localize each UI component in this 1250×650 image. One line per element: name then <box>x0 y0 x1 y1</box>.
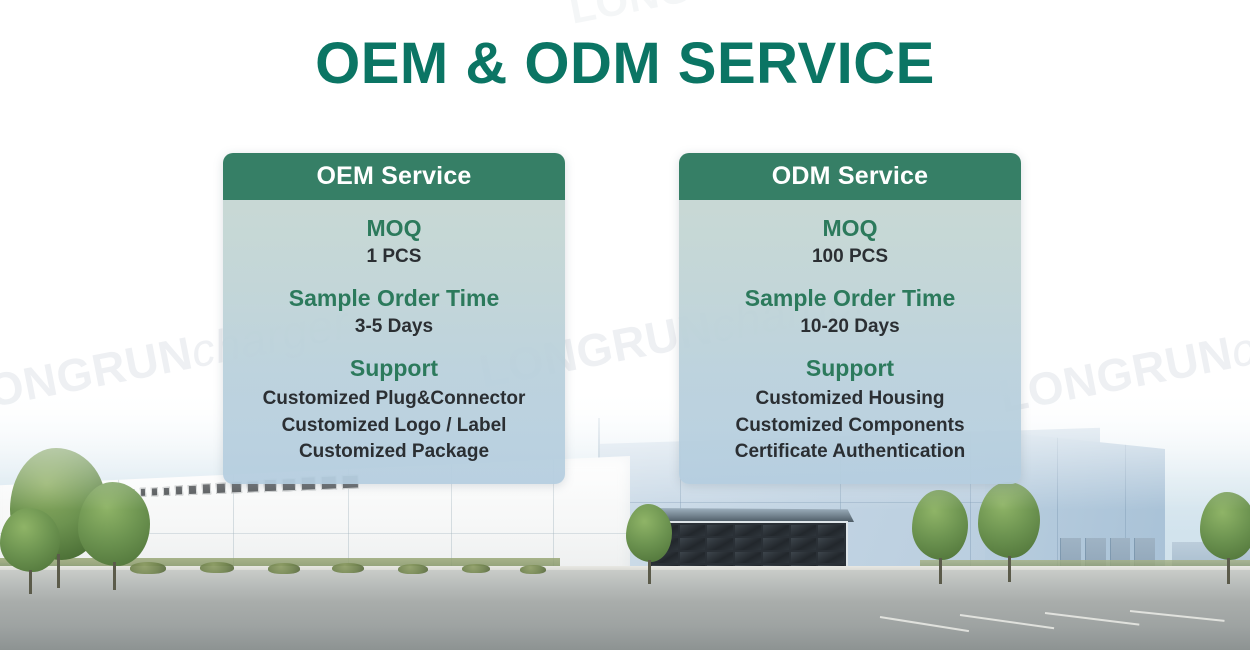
odm-card-header: ODM Service <box>679 153 1021 200</box>
page-title: OEM & ODM SERVICE <box>0 34 1250 95</box>
odm-moq-label: MOQ <box>689 214 1011 243</box>
odm-moq-group: MOQ 100 PCS <box>689 214 1011 270</box>
oem-support-label: Support <box>233 354 555 383</box>
odm-support-list: Customized Housing Customized Components… <box>689 386 1011 466</box>
oem-card-body: MOQ 1 PCS Sample Order Time 3-5 Days Sup… <box>223 200 565 484</box>
slide-canvas: LONGRUNcharger LONGRUNcharger LONGRUNcha… <box>0 0 1250 650</box>
odm-moq-value: 100 PCS <box>689 245 1011 269</box>
oem-moq-value: 1 PCS <box>233 245 555 269</box>
tree-right-1 <box>626 504 672 584</box>
tree-entrance-2 <box>978 482 1040 582</box>
oem-sample-order-time-label: Sample Order Time <box>233 284 555 313</box>
tree-left-3 <box>0 508 60 594</box>
list-item: Customized Plug&Connector <box>233 386 555 413</box>
list-item: Customized Package <box>233 439 555 466</box>
tree-entrance-1 <box>912 490 968 584</box>
oem-support-group: Support Customized Plug&Connector Custom… <box>233 354 555 466</box>
oem-sample-order-time-value: 3-5 Days <box>233 315 555 339</box>
watermark-top: LONGRUNcharger <box>565 0 929 34</box>
tree-left-2 <box>78 482 150 590</box>
odm-support-group: Support Customized Housing Customized Co… <box>689 354 1011 466</box>
oem-service-card: OEM Service MOQ 1 PCS Sample Order Time … <box>223 153 565 484</box>
list-item: Customized Logo / Label <box>233 413 555 440</box>
parking-lot <box>0 570 1250 650</box>
entrance-canopy <box>642 508 854 522</box>
oem-support-list: Customized Plug&Connector Customized Log… <box>233 386 555 466</box>
oem-card-header: OEM Service <box>223 153 565 200</box>
tree-right-edge <box>1200 492 1250 584</box>
list-item: Certificate Authentication <box>689 439 1011 466</box>
list-item: Customized Components <box>689 413 1011 440</box>
odm-sample-order-time-value: 10-20 Days <box>689 315 1011 339</box>
oem-sample-order-time-group: Sample Order Time 3-5 Days <box>233 284 555 340</box>
oem-moq-label: MOQ <box>233 214 555 243</box>
odm-card-body: MOQ 100 PCS Sample Order Time 10-20 Days… <box>679 200 1021 484</box>
list-item: Customized Housing <box>689 386 1011 413</box>
factory-building-photo <box>0 390 1250 650</box>
odm-service-card: ODM Service MOQ 100 PCS Sample Order Tim… <box>679 153 1021 484</box>
oem-moq-group: MOQ 1 PCS <box>233 214 555 270</box>
odm-sample-order-time-group: Sample Order Time 10-20 Days <box>689 284 1011 340</box>
odm-sample-order-time-label: Sample Order Time <box>689 284 1011 313</box>
odm-support-label: Support <box>689 354 1011 383</box>
